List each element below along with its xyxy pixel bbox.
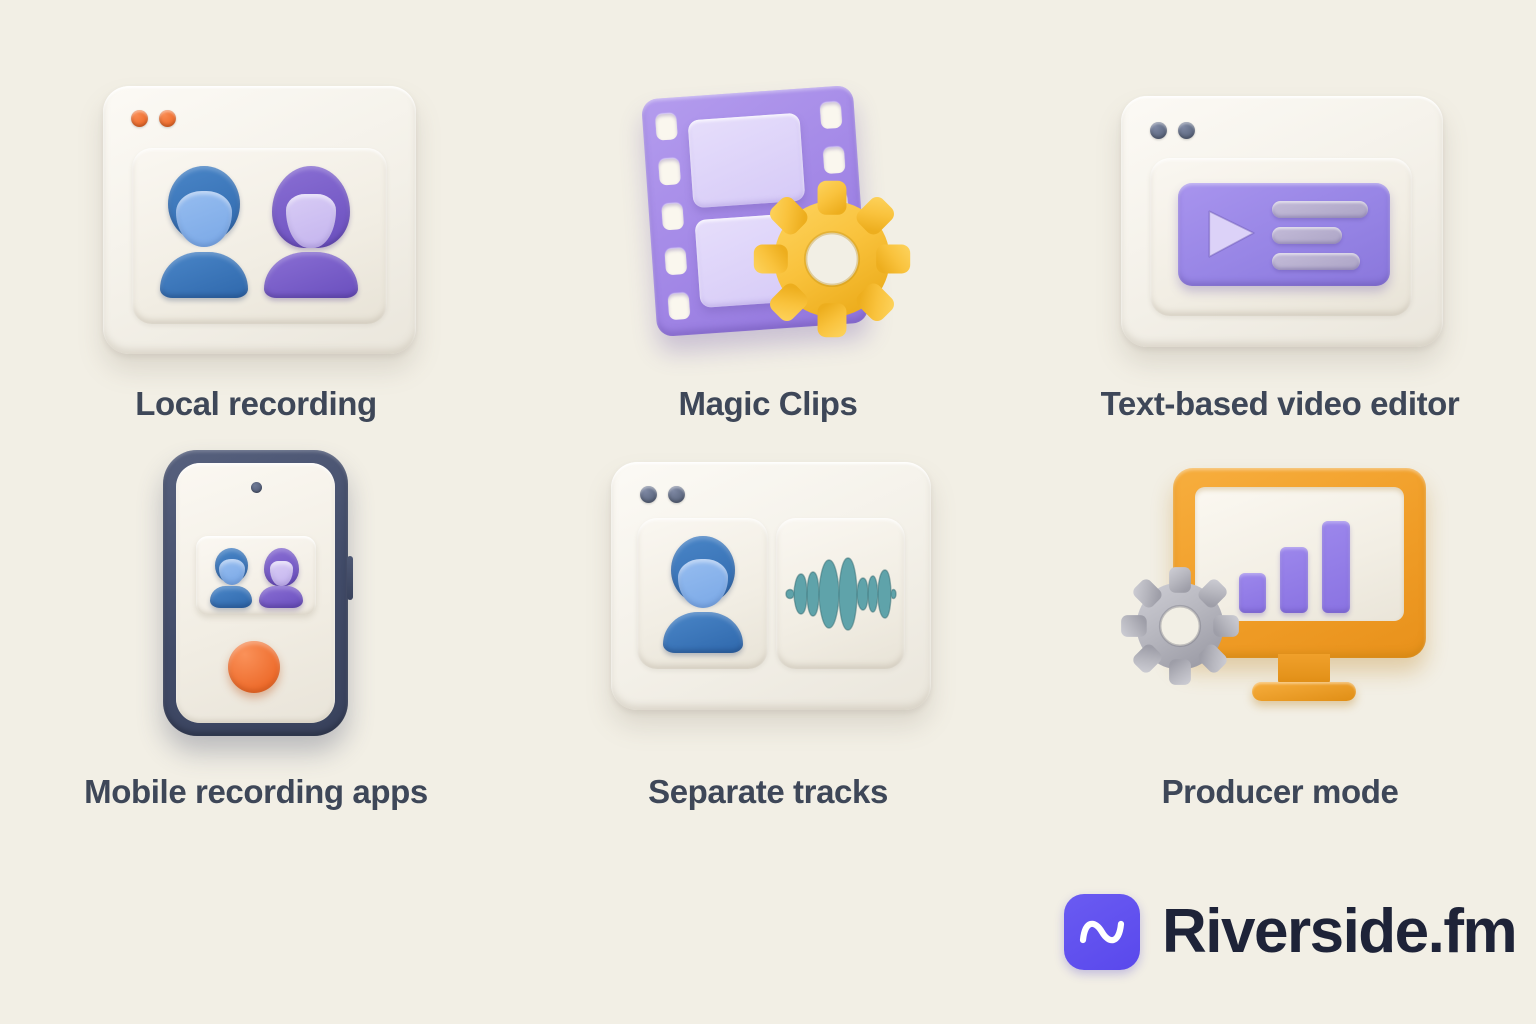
- transcript-line-2: [1272, 227, 1342, 244]
- call-tile: [196, 536, 316, 615]
- avatar-female-small: [258, 548, 306, 606]
- film-perforation: [668, 293, 691, 320]
- window-dot-2: [159, 110, 176, 127]
- riverside-wave-logo-icon: [1064, 894, 1140, 970]
- window-dots: [1150, 122, 1195, 139]
- window-dot-2: [1178, 122, 1195, 139]
- phone-camera-icon: [251, 482, 262, 493]
- phone-body: [163, 450, 348, 736]
- feature-grid: Local recording: [0, 0, 1536, 880]
- brand-name: Riverside.fm: [1162, 901, 1516, 963]
- feature-label: Producer mode: [1162, 773, 1399, 811]
- video-transcript-card: [1178, 183, 1390, 286]
- transcript-line-1: [1272, 201, 1368, 218]
- window-frame: [103, 86, 416, 354]
- feature-card-producer-mode[interactable]: Producer mode: [1024, 440, 1536, 880]
- phone-side-button[interactable]: [347, 556, 353, 600]
- avatar-male-small: [208, 548, 256, 606]
- monitor-gear-bars-icon: [1115, 450, 1445, 735]
- transcript-line-3: [1272, 253, 1360, 270]
- track-panel-video: [637, 518, 768, 669]
- window-dot-2: [668, 486, 685, 503]
- window-dot-1: [1150, 122, 1167, 139]
- film-perforation: [658, 158, 681, 185]
- window-dots: [131, 110, 176, 127]
- brand-logo[interactable]: Riverside.fm: [1064, 894, 1516, 970]
- smartphone-record-icon: [91, 450, 421, 735]
- bar-chart-bar-3: [1322, 521, 1350, 613]
- film-strip-gear-icon: [603, 78, 933, 363]
- gear-icon: [747, 174, 917, 344]
- feature-card-text-based-video-editor[interactable]: Text-based video editor: [1024, 0, 1536, 440]
- record-button[interactable]: [228, 641, 280, 693]
- film-perforation: [820, 102, 843, 129]
- waveform-icon: [784, 554, 898, 634]
- window-content-panel: [132, 148, 387, 324]
- phone-screen: [176, 463, 335, 723]
- play-icon: [1200, 203, 1262, 265]
- film-perforation: [664, 248, 687, 275]
- feature-card-mobile-recording-apps[interactable]: Mobile recording apps: [0, 440, 512, 880]
- avatar-female: [260, 166, 364, 306]
- gear-icon: [1116, 562, 1244, 690]
- feature-label: Local recording: [135, 385, 377, 423]
- window-frame: [1121, 96, 1443, 347]
- film-perforation: [823, 147, 846, 174]
- browser-window-play-transcript-icon: [1115, 78, 1445, 363]
- film-perforation: [655, 113, 678, 140]
- avatar-speaker: [661, 536, 745, 656]
- bar-chart-bar-2: [1280, 547, 1308, 613]
- feature-label: Mobile recording apps: [84, 773, 428, 811]
- window-frame: [611, 462, 931, 710]
- window-dot-1: [640, 486, 657, 503]
- film-perforation: [661, 203, 684, 230]
- window-dots: [640, 486, 685, 503]
- feature-card-magic-clips[interactable]: Magic Clips: [512, 0, 1024, 440]
- feature-card-local-recording[interactable]: Local recording: [0, 0, 512, 440]
- window-dot-1: [131, 110, 148, 127]
- feature-label: Text-based video editor: [1101, 385, 1460, 423]
- poster-canvas: Local recording: [0, 0, 1536, 1024]
- feature-card-separate-tracks[interactable]: Separate tracks: [512, 440, 1024, 880]
- wave-glyph: [1077, 912, 1127, 952]
- feature-label: Magic Clips: [679, 385, 858, 423]
- feature-label: Separate tracks: [648, 773, 888, 811]
- browser-window-two-people-icon: [91, 78, 421, 363]
- window-content-panel: [1150, 158, 1412, 316]
- monitor-base: [1252, 682, 1356, 701]
- avatar-male: [154, 166, 254, 306]
- track-panel-audio: [776, 518, 905, 669]
- browser-window-avatar-waveform-icon: [603, 450, 933, 735]
